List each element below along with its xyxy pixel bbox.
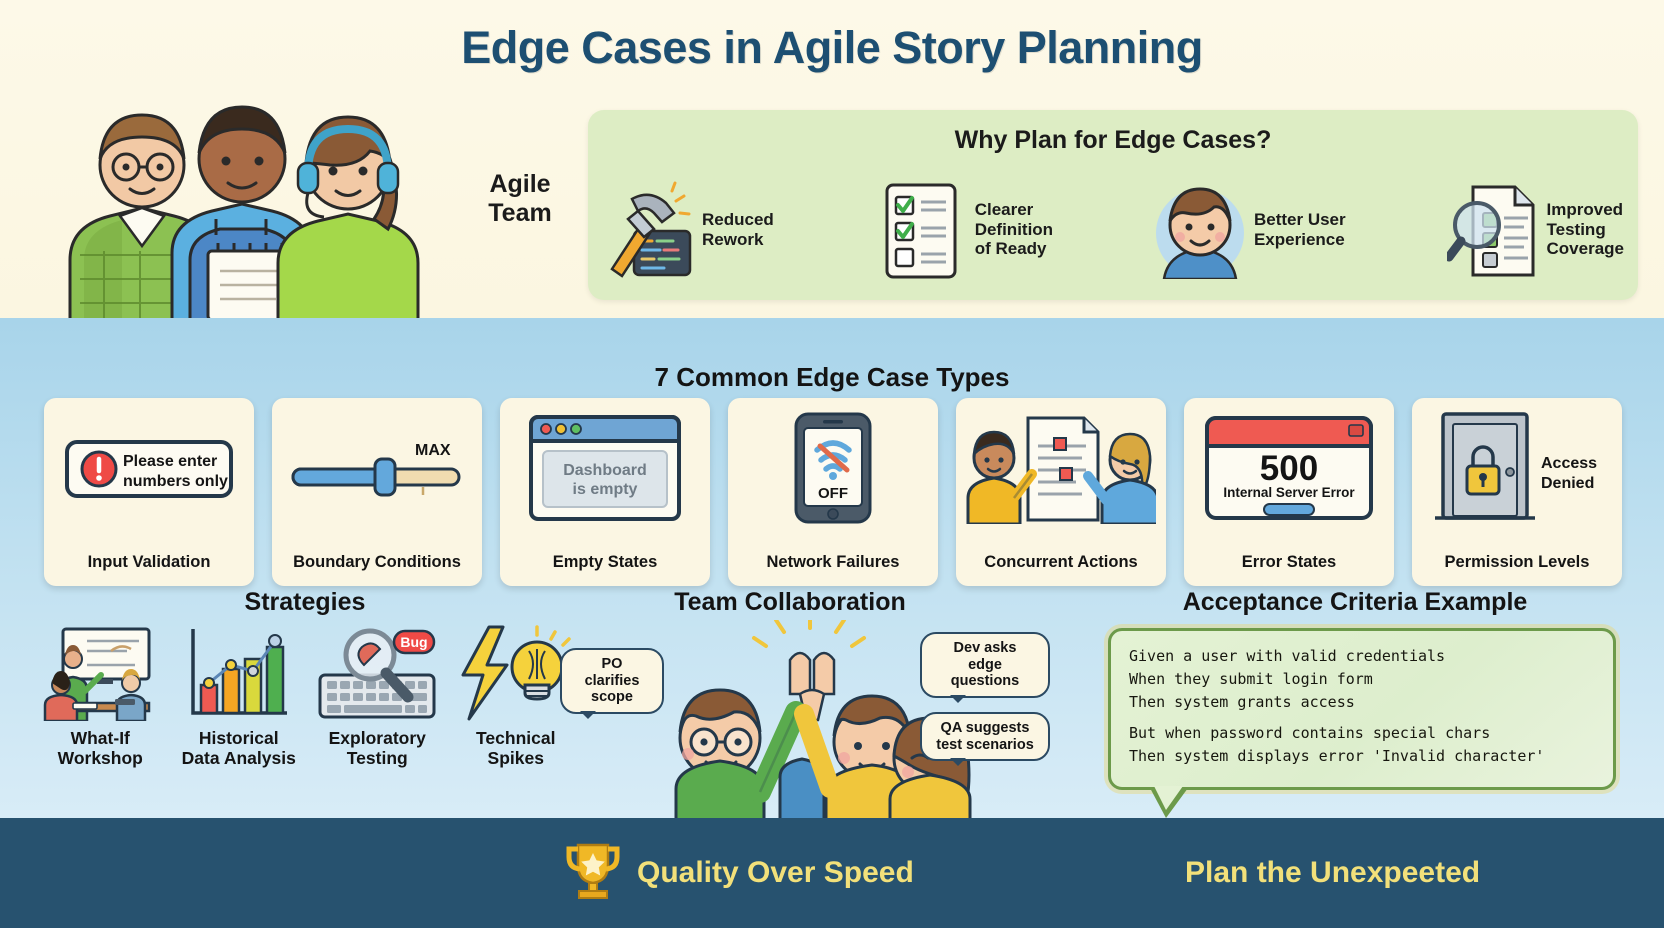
phone-wifi-off-icon: OFF [728,414,938,522]
card-label: Input Validation [44,553,254,572]
criteria-spacer [1129,713,1597,722]
svg-text:500: 500 [1260,449,1318,488]
benefit-better-user-experience: Better User Experience [1154,181,1346,279]
svg-text:Internal Server Error: Internal Server Error [1223,485,1355,500]
card-label: Network Failures [728,553,938,572]
card-boundary-conditions[interactable]: MAX Boundary Conditions [272,398,482,586]
agile-team-label: Agile Team [455,170,585,227]
card-label: Empty States [500,553,710,572]
strategy-label-line1: Exploratory [329,729,426,749]
svg-text:Access: Access [1541,455,1597,472]
strategy-label-line2: Workshop [58,749,143,769]
benefit-better-ux-label: Better User Experience [1254,210,1346,250]
benefit-line-1: Reduced [702,210,774,230]
locked-door-icon: Access Denied [1412,414,1622,522]
why-plan-panel: Why Plan for Edge Cases? [588,110,1638,300]
two-people-doc-icon [956,414,1166,522]
bubble-line1: PO clarifies [573,656,651,689]
po-bubble: PO clarifies scope [560,648,664,714]
agile-team-label-line2: Team [455,199,585,228]
strategies-list: What-If Workshop [34,625,582,795]
strategy-historical-data-analysis[interactable]: Historical Data Analysis [173,625,306,795]
benefit-line-1: Clearer [975,200,1053,220]
svg-text:MAX: MAX [415,442,451,459]
svg-text:is empty: is empty [573,481,638,498]
card-label: Concurrent Actions [956,553,1166,572]
benefit-line-3: Coverage [1547,239,1624,259]
keyboard-bug-icon: Bug [316,625,438,721]
benefit-line-3: of Ready [975,239,1053,259]
strategy-label-line1: Technical [476,729,555,749]
bar-chart-icon [183,625,295,721]
svg-text:numbers only: numbers only [123,473,228,490]
infographic-page: Edge Cases in Agile Story Planning [0,0,1664,928]
bubble-line2: scope [573,689,651,706]
strategy-label: Historical Data Analysis [182,729,296,768]
footer-right-group: Plan the Unexpeeted [1185,818,1480,928]
svg-text:Denied: Denied [1541,475,1594,492]
collaboration-section-title: Team Collaboration [560,588,1020,617]
strategy-label-line1: Historical [182,729,296,749]
dev-bubble: Dev asks edge questions [920,632,1050,698]
criteria-speech-tail-inner [1154,786,1183,810]
checklist-icon [875,181,967,279]
bubble-line1: QA suggests [933,720,1037,737]
trophy-icon [565,841,621,905]
top-band: Edge Cases in Agile Story Planning [0,0,1664,340]
edge-case-card-list: Please enter numbers only Input Validati… [44,398,1622,586]
magnifier-document-icon [1447,181,1539,279]
agile-team-label-line1: Agile [455,170,585,199]
bubble-line2: edge questions [933,657,1037,690]
benefit-clearer-definition-label: Clearer Definition of Ready [975,200,1053,260]
why-plan-items: Reduced Rework [602,172,1624,287]
strategy-label-line2: Testing [329,749,426,769]
strategy-what-if-workshop[interactable]: What-If Workshop [34,625,167,795]
strategy-label-line2: Data Analysis [182,749,296,769]
criteria-section-title: Acceptance Criteria Example [1075,588,1635,617]
footer-left-group: Quality Over Speed [565,818,914,928]
strategy-exploratory-testing[interactable]: Bug Exploratory Testing [311,625,444,795]
card-permission-levels[interactable]: Access Denied Permission Levels [1412,398,1622,586]
svg-text:OFF: OFF [818,485,848,502]
strategy-label-line1: What-If [58,729,143,749]
bubble-line2: test scenarios [933,737,1037,754]
benefit-improved-testing-coverage: Improved Testing Coverage [1447,181,1624,279]
types-section-title: 7 Common Edge Case Types [0,362,1664,393]
card-network-failures[interactable]: OFF Network Failures [728,398,938,586]
svg-text:Bug: Bug [401,634,428,650]
error-toast-icon: Please enter numbers only [44,414,254,522]
benefit-line-2: Definition [975,220,1053,240]
happy-user-icon [1154,181,1246,279]
strategy-label: What-If Workshop [58,729,143,768]
criteria-line: Given a user with valid credentials [1129,645,1597,668]
footer-left-text: Quality Over Speed [637,856,914,890]
svg-text:Dashboard: Dashboard [563,462,647,479]
benefit-improved-testing-label: Improved Testing Coverage [1547,200,1624,260]
why-plan-title: Why Plan for Edge Cases? [588,126,1638,155]
card-error-states[interactable]: 500 Internal Server Error Error States [1184,398,1394,586]
benefit-reduced-rework-label: Reduced Rework [702,210,774,250]
criteria-line: Then system displays error 'Invalid char… [1129,745,1597,768]
criteria-line: Then system grants access [1129,691,1597,714]
bubble-line1: Dev asks [933,640,1037,657]
benefit-reduced-rework: Reduced Rework [602,181,774,279]
strategies-section-title: Strategies [30,588,580,617]
card-empty-states[interactable]: Dashboard is empty Empty States [500,398,710,586]
benefit-line-1: Better User [1254,210,1346,230]
acceptance-criteria-box: Given a user with valid credentials When… [1108,628,1616,790]
card-label: Error States [1184,553,1394,572]
server-error-icon: 500 Internal Server Error [1184,414,1394,522]
empty-window-icon: Dashboard is empty [500,414,710,522]
collaboration-illustration: PO clarifies scope Dev asks edge questio… [552,620,1072,825]
card-label: Permission Levels [1412,553,1622,572]
strategy-label: Exploratory Testing [329,729,426,768]
benefit-line-2: Experience [1254,230,1346,250]
benefit-line-1: Improved [1547,200,1624,220]
criteria-line: When they submit login form [1129,668,1597,691]
strategy-label-line2: Spikes [476,749,555,769]
svg-text:Please enter: Please enter [123,453,217,470]
agile-team-illustration [40,55,460,320]
footer-bar: Quality Over Speed Plan the Unexpeeted [0,818,1664,928]
hammer-code-icon [602,181,694,279]
benefit-line-2: Testing [1547,220,1624,240]
criteria-line: But when password contains special chars [1129,722,1597,745]
qa-bubble: QA suggests test scenarios [920,712,1050,761]
card-concurrent-actions[interactable]: Concurrent Actions [956,398,1166,586]
whiteboard-meeting-icon [39,625,161,721]
footer-right-text: Plan the Unexpeeted [1185,856,1480,890]
benefit-line-2: Rework [702,230,774,250]
card-input-validation[interactable]: Please enter numbers only Input Validati… [44,398,254,586]
card-label: Boundary Conditions [272,553,482,572]
strategy-label: Technical Spikes [476,729,555,768]
benefit-clearer-definition-of-ready: Clearer Definition of Ready [875,181,1053,279]
slider-max-icon: MAX [272,414,482,522]
